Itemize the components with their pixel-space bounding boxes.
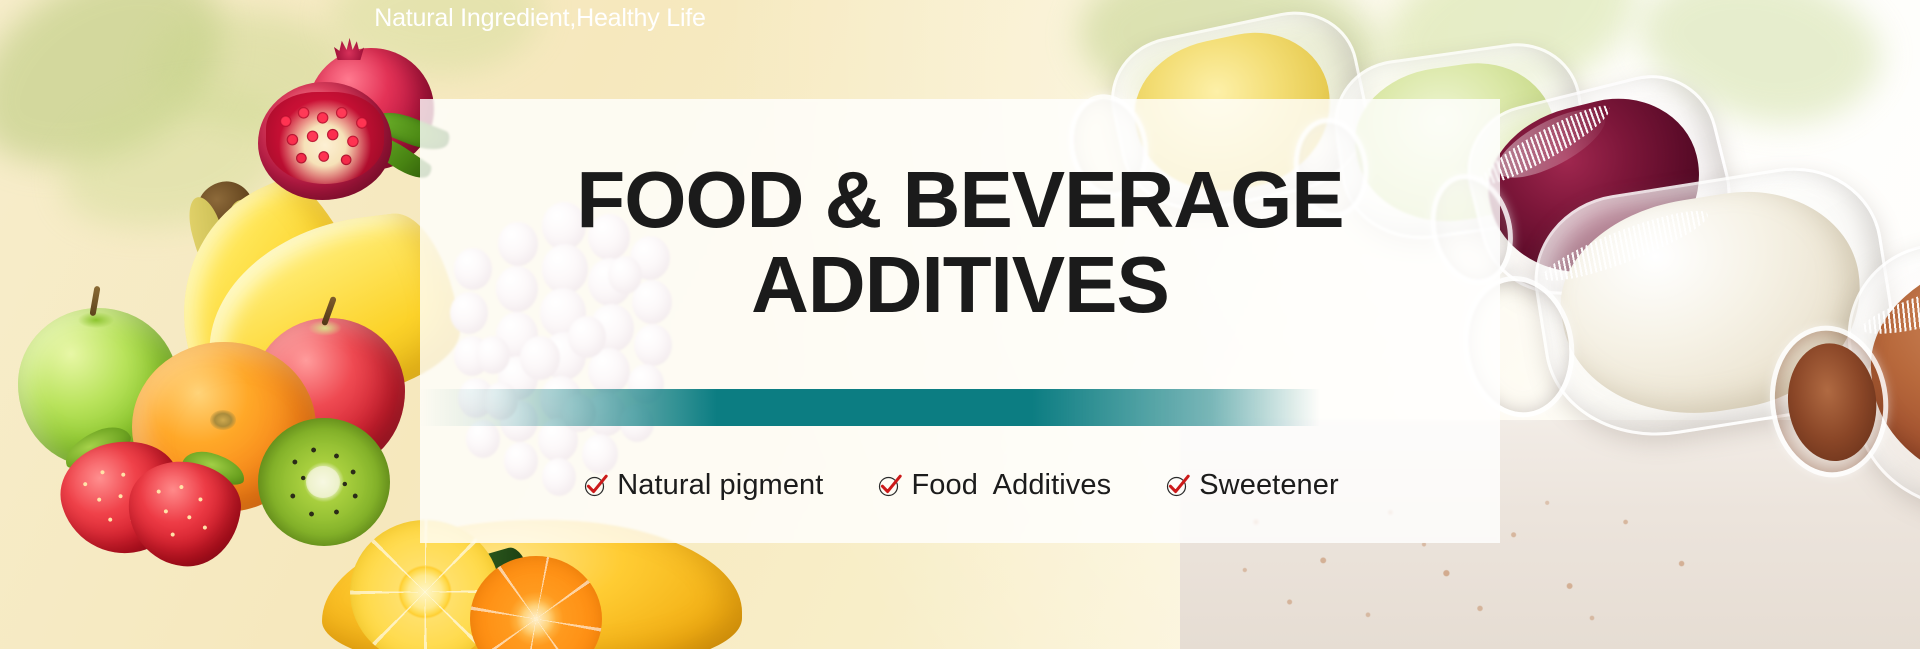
- headline-line-1: FOOD & BEVERAGE: [420, 160, 1500, 239]
- check-circle-icon: [875, 470, 905, 500]
- headline-line-2: ADDITIVES: [420, 245, 1500, 324]
- glass-jar-cocoa-powder: [1767, 216, 1920, 529]
- feature-item-food-additives[interactable]: Food Additives: [875, 469, 1111, 502]
- strawberry-seeds: [134, 467, 234, 562]
- feature-label: Sweetener: [1199, 469, 1339, 502]
- page-title: FOOD & BEVERAGE ADDITIVES: [420, 160, 1500, 324]
- orange-navel: [210, 410, 236, 430]
- check-circle-icon: [1163, 470, 1193, 500]
- feature-list: Natural pigment Food Additives Sweetener: [420, 455, 1500, 515]
- green-apple-dimple: [78, 312, 114, 328]
- kiwi-seeds: [272, 432, 376, 532]
- feature-label: Food Additives: [911, 469, 1111, 502]
- tagline-bar: [420, 389, 1320, 426]
- check-circle-icon: [581, 470, 611, 500]
- pomegranate-seeds: [270, 96, 382, 180]
- feature-label: Natural pigment: [617, 469, 823, 502]
- feature-item-natural-pigment[interactable]: Natural pigment: [581, 469, 823, 502]
- food-beverage-additives-banner: FOOD & BEVERAGE ADDITIVES Natural Ingred…: [0, 0, 1920, 649]
- tagline-text: Natural Ingredient,Healthy Life: [0, 0, 1080, 37]
- feature-item-sweetener[interactable]: Sweetener: [1163, 469, 1339, 502]
